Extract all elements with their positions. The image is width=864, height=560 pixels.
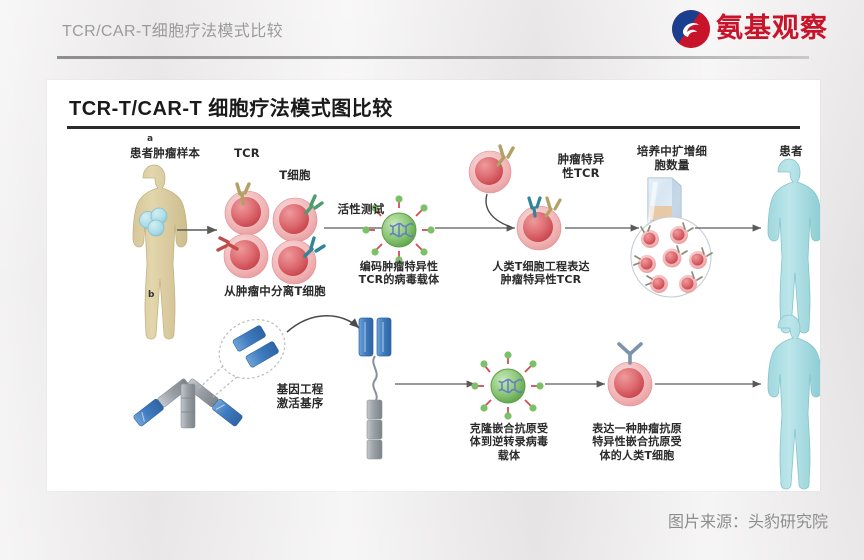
diagram-graphics	[47, 132, 820, 491]
label-genetic-engineering: 基因工程 激活基序	[255, 382, 345, 410]
page-header: TCR/CAR-T细胞疗法模式比较 氨基观察	[0, 0, 864, 62]
label-t-cell: T细胞	[265, 168, 325, 182]
label-patient: 患者	[765, 144, 817, 158]
t-cell-pool	[218, 184, 324, 284]
card-title: TCR-T/CAR-T 细胞疗法模式图比较	[69, 92, 393, 121]
car-t-cell	[608, 344, 652, 406]
brand-emblem-icon	[672, 10, 710, 48]
panel-letter-a: a	[147, 134, 153, 144]
patient-receiving-figure-b	[768, 315, 820, 489]
swoosh-icon	[679, 17, 703, 41]
arrow-b-curve	[287, 316, 359, 332]
label-express-car-t: 表达一种肿瘤抗原 特异性嵌合抗原受 体的人类T细胞	[571, 422, 703, 462]
label-patient-sample: 患者肿瘤样本	[105, 146, 225, 160]
image-source-note: 图片来源：头豹研究院	[668, 508, 828, 532]
label-activity-test: 活性测试	[330, 202, 392, 216]
expanded-cells-magnifier	[631, 217, 712, 297]
brand-name: 氨基观察	[716, 10, 828, 48]
label-clone-car-vector: 克隆嵌合抗原受 体到逆转录病毒 载体	[446, 422, 572, 462]
header-divider	[57, 56, 809, 59]
engineered-t-cell-a	[517, 198, 561, 250]
car-construct	[359, 318, 391, 459]
label-isolate-t-cells: 从肿瘤中分离T细胞	[195, 284, 355, 298]
brand-logo: 氨基观察	[672, 10, 828, 48]
panel-letter-b: b	[148, 290, 154, 300]
label-engineered-expression: 人类T细胞工程表达 肿瘤特异性TCR	[467, 260, 615, 287]
page-title: TCR/CAR-T细胞疗法模式比较	[62, 17, 283, 41]
card-title-underline	[67, 126, 800, 129]
label-viral-vector: 编码肿瘤特异性 TCR的病毒载体	[335, 260, 463, 287]
figure-card: TCR-T/CAR-T 细胞疗法模式图比较	[47, 80, 820, 491]
antibody-icon	[133, 377, 243, 428]
label-expand-in-culture: 培养中扩增细 胞数量	[623, 144, 721, 172]
selected-t-cell	[469, 146, 513, 193]
patient-tumor-sample-figure	[133, 165, 187, 339]
label-tcr: TCR	[222, 146, 272, 160]
transfer-curve-a	[486, 194, 511, 227]
patient-receiving-figure-a	[768, 159, 820, 333]
retroviral-vector-icon	[471, 351, 543, 419]
label-tumor-specific-tcr: 肿瘤特异 性TCR	[539, 152, 623, 180]
diagram-figure: a b 患者肿瘤样本 TCR T细胞 从肿瘤中分离T细胞 活性测试 编码肿瘤特异…	[47, 132, 820, 491]
scfv-fragments	[232, 325, 279, 368]
